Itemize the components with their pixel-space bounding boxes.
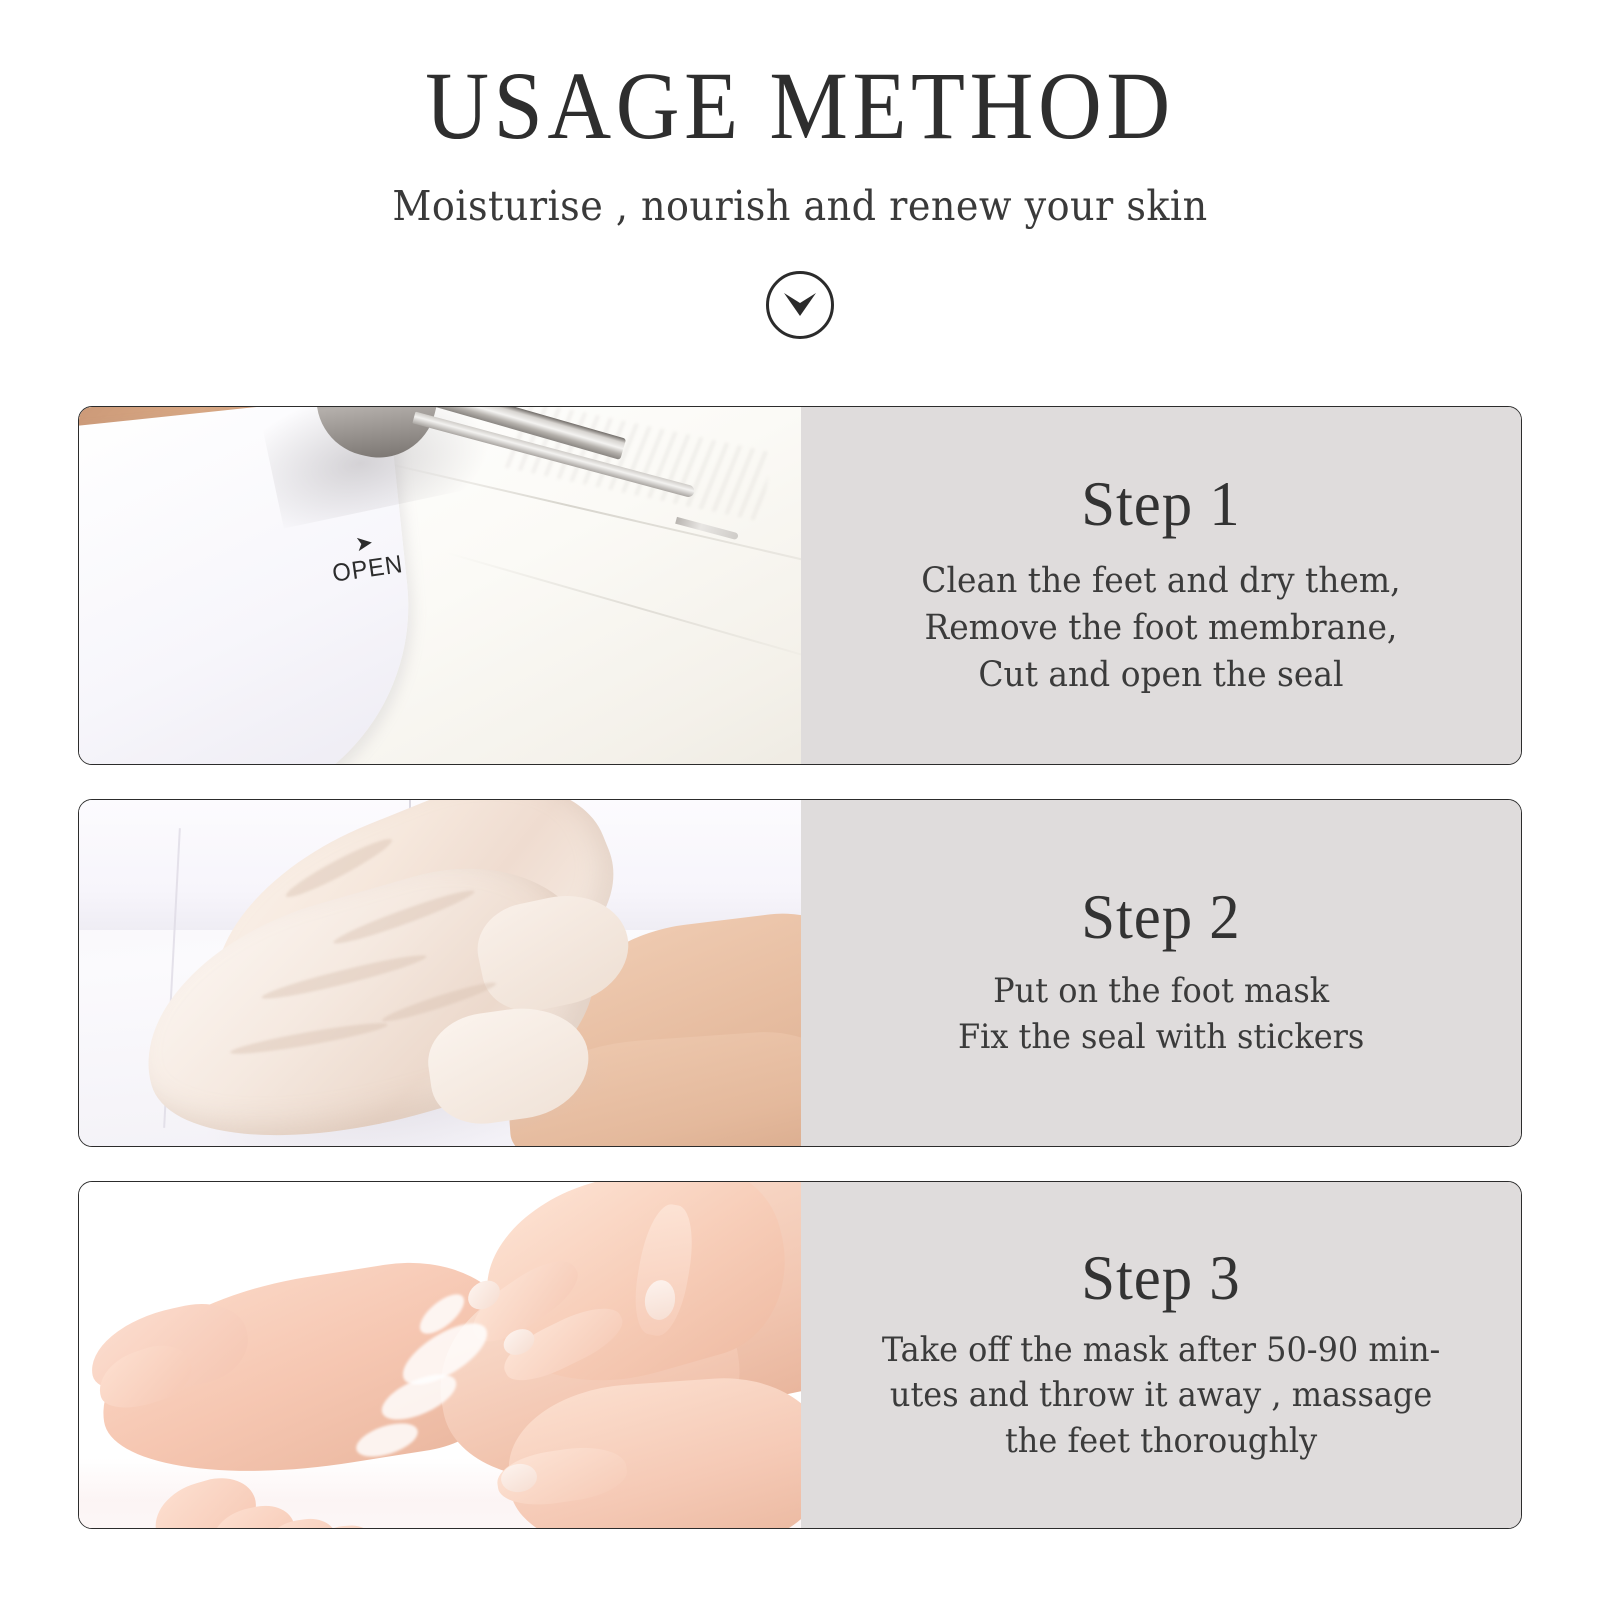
open-marking: ➤ OPEN bbox=[326, 530, 407, 589]
step-3-line-3: the feet thoroughly bbox=[882, 1419, 1441, 1465]
steps-list: ➤ OPEN Step 1 Clean the feet and dry the… bbox=[78, 406, 1522, 1529]
step-1-panel: Step 1 Clean the feet and dry them, Remo… bbox=[801, 407, 1521, 764]
step-3-line-1: Take off the mask after 50-90 min- bbox=[882, 1328, 1441, 1374]
step-3-panel: Step 3 Take off the mask after 50-90 min… bbox=[801, 1182, 1521, 1528]
step-2-photo bbox=[79, 800, 801, 1146]
step-card-3: Step 3 Take off the mask after 50-90 min… bbox=[78, 1181, 1522, 1529]
page-subtitle: Moisturise , nourish and renew your skin bbox=[56, 184, 1544, 229]
scroll-down-indicator bbox=[0, 271, 1600, 339]
step-2-title: Step 2 bbox=[1081, 885, 1240, 949]
step-3-title: Step 3 bbox=[1081, 1246, 1240, 1310]
step-3-description: Take off the mask after 50-90 min- utes … bbox=[882, 1328, 1441, 1465]
step-1-line-3: Cut and open the seal bbox=[921, 652, 1400, 699]
header: USAGE METHOD Moisturise , nourish and re… bbox=[0, 0, 1600, 339]
step-2-line-1: Put on the foot mask bbox=[958, 969, 1364, 1015]
step-1-description: Clean the feet and dry them, Remove the … bbox=[921, 558, 1400, 699]
step-card-2: Step 2 Put on the foot mask Fix the seal… bbox=[78, 799, 1522, 1147]
step-2-description: Put on the foot mask Fix the seal with s… bbox=[958, 969, 1364, 1060]
page-title: USAGE METHOD bbox=[64, 58, 1536, 154]
step-card-1: ➤ OPEN Step 1 Clean the feet and dry the… bbox=[78, 406, 1522, 765]
step-1-title: Step 1 bbox=[1081, 472, 1240, 536]
step-1-line-2: Remove the foot membrane, bbox=[921, 605, 1400, 652]
step-3-line-2: utes and throw it away , massage bbox=[882, 1373, 1441, 1419]
usage-method-infographic: USAGE METHOD Moisturise , nourish and re… bbox=[0, 0, 1600, 1600]
chevron-down-circle-icon bbox=[766, 271, 834, 339]
step-1-photo: ➤ OPEN bbox=[79, 407, 801, 764]
step-2-line-2: Fix the seal with stickers bbox=[958, 1015, 1364, 1061]
step-3-photo bbox=[79, 1182, 801, 1528]
step-1-line-1: Clean the feet and dry them, bbox=[921, 558, 1400, 605]
step-2-panel: Step 2 Put on the foot mask Fix the seal… bbox=[801, 800, 1521, 1146]
